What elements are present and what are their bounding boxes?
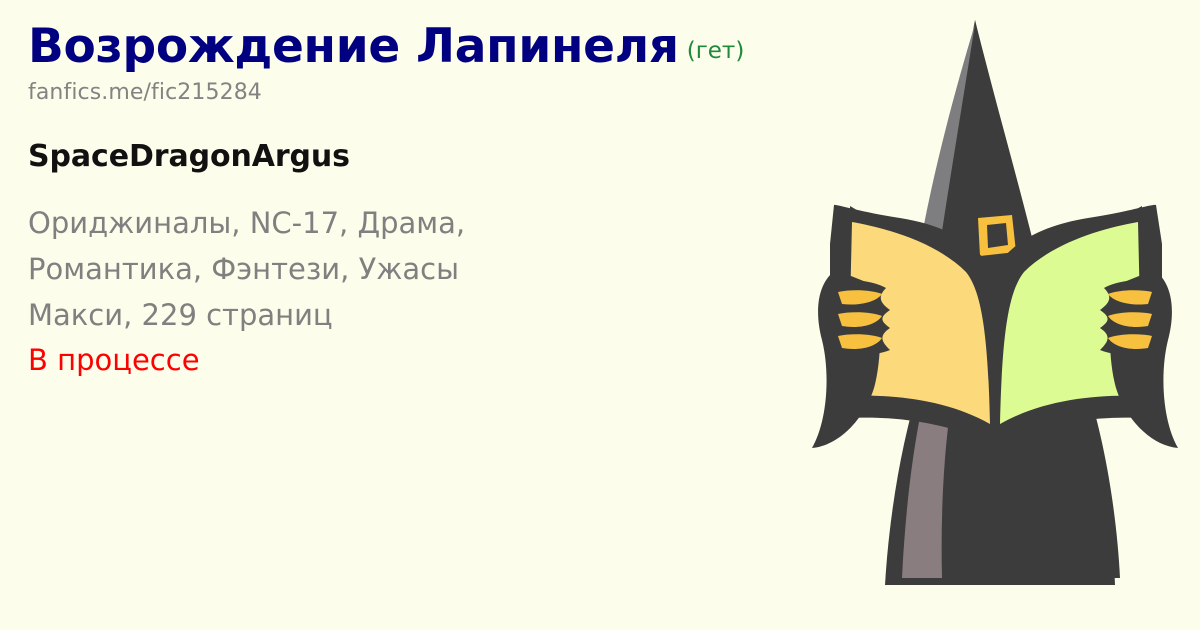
metadata-block: Ориджиналы, NC-17, Драма, Романтика, Фэн… bbox=[28, 201, 848, 384]
meta-line-genres-1: Ориджиналы, NC-17, Драма, bbox=[28, 201, 848, 247]
right-hand bbox=[1100, 270, 1178, 448]
text-column: Возрождение Лапинеля(гет) fanfics.me/fic… bbox=[28, 22, 848, 384]
status-badge: В процессе bbox=[28, 338, 848, 384]
wizard-reading-book-illustration bbox=[790, 0, 1200, 630]
category-tag: (гет) bbox=[687, 38, 745, 64]
meta-line-size-pages: Макси, 229 страниц bbox=[28, 293, 848, 339]
left-hand bbox=[812, 270, 890, 448]
author-name: SpaceDragonArgus bbox=[28, 140, 848, 173]
page-title: Возрождение Лапинеля bbox=[28, 19, 679, 74]
source-url: fanfics.me/fic215284 bbox=[28, 81, 848, 105]
title-row: Возрождение Лапинеля(гет) bbox=[28, 22, 848, 72]
meta-line-genres-2: Романтика, Фэнтези, Ужасы bbox=[28, 247, 848, 293]
fanfic-preview-card: Возрождение Лапинеля(гет) fanfics.me/fic… bbox=[0, 0, 1200, 630]
